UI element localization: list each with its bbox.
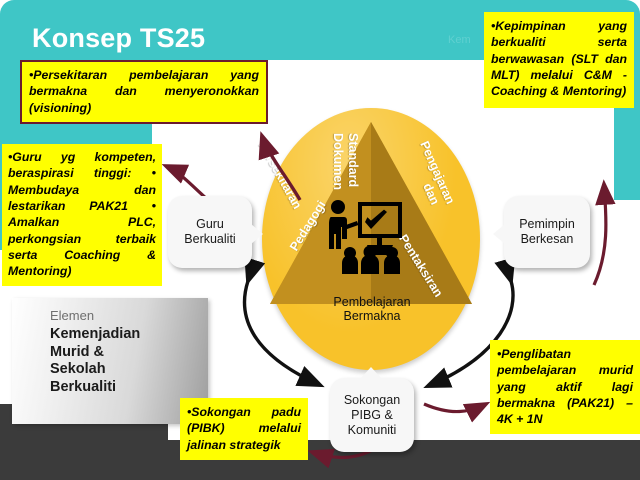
callout-guru-kompeten-text: •Guru yg kompeten, beraspirasi tinggi: •… xyxy=(8,150,156,278)
callout-persekitaran[interactable]: •Persekitaran pembelajaran yang bermakna… xyxy=(20,60,268,124)
callout-kepimpinan[interactable]: •Kepimpinan yang berkualiti serta berwaw… xyxy=(484,12,634,108)
node-pointer-top-icon xyxy=(360,367,382,379)
teacher-classroom-icon xyxy=(322,198,414,274)
callout-penglibatan[interactable]: •Penglibatan pembelajaran murid yang akt… xyxy=(490,340,640,434)
node-pemimpin-berkesan[interactable]: Pemimpin Berkesan xyxy=(504,196,590,268)
page-title: Konsep TS25 xyxy=(32,23,205,54)
node-pointer-right-icon xyxy=(251,224,263,244)
triangle-label-dokumen: Dokumen xyxy=(331,133,345,190)
node-guru-berkualiti[interactable]: Guru Berkualiti xyxy=(168,196,252,268)
ring-bottom-label: Pembelajaran Bermakna xyxy=(302,295,442,324)
callout-guru-kompeten[interactable]: •Guru yg kompeten, beraspirasi tinggi: •… xyxy=(2,144,162,286)
node-pointer-left-icon xyxy=(493,224,505,244)
footer-band xyxy=(0,440,640,480)
node-sokongan-pibg-label: Sokongan PIBG & Komuniti xyxy=(344,393,400,438)
elemen-kicker: Elemen xyxy=(50,308,94,323)
node-pemimpin-berkesan-label: Pemimpin Berkesan xyxy=(519,217,575,247)
callout-sokongan-padu[interactable]: •Sokongan padu (PIBK) melalui jalinan st… xyxy=(180,398,308,460)
elemen-headline: Kemenjadian Murid & Sekolah Berkualiti xyxy=(50,326,140,397)
triangle-label-standard: Standard xyxy=(346,133,360,187)
node-guru-berkualiti-label: Guru Berkualiti xyxy=(184,217,235,247)
elemen-panel: Elemen Kemenjadian Murid & Sekolah Berku… xyxy=(12,298,208,424)
callout-sokongan-padu-text: •Sokongan padu (PIBK) melalui jalinan st… xyxy=(187,405,301,452)
node-sokongan-pibg[interactable]: Sokongan PIBG & Komuniti xyxy=(330,378,414,452)
callout-kepimpinan-text: •Kepimpinan yang berkualiti serta berwaw… xyxy=(491,19,627,98)
slide-canvas: Konsep TS25 Kem Elemen Kemenjadian Murid… xyxy=(0,0,640,480)
background-watermark-text: Kem xyxy=(448,34,471,46)
callout-persekitaran-text: •Persekitaran pembelajaran yang bermakna… xyxy=(29,68,259,115)
callout-penglibatan-text: •Penglibatan pembelajaran murid yang akt… xyxy=(497,347,633,426)
